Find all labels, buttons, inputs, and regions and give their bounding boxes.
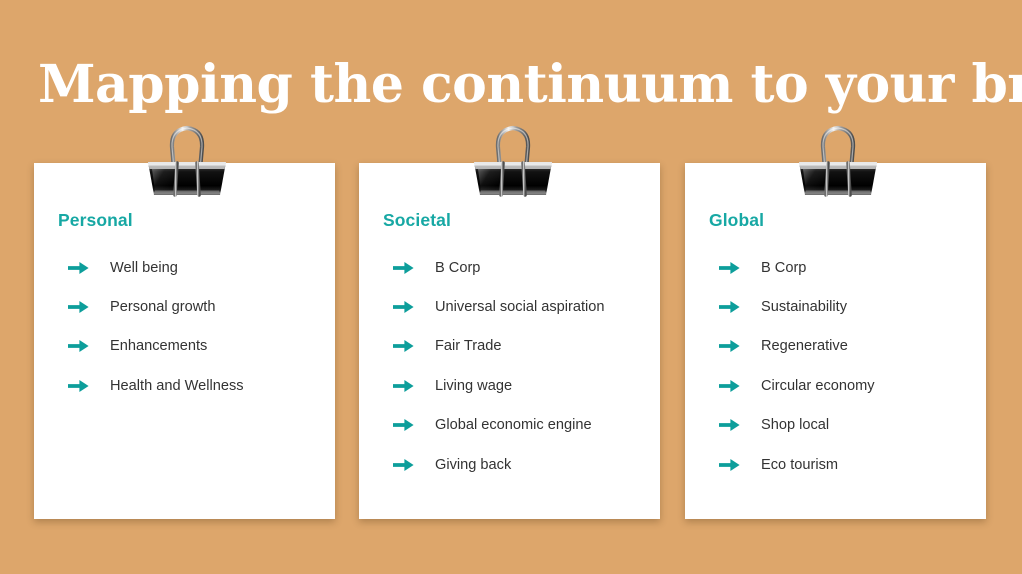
card-global[interactable]: Global B Corp: [685, 163, 986, 519]
arrow-right-icon: [392, 260, 415, 276]
arrow-right-icon: [392, 417, 415, 433]
card-content: Global B Corp: [685, 163, 986, 519]
slide-canvas: Mapping the continuum to your brand Pers…: [0, 0, 1022, 574]
arrow-right-icon: [67, 299, 90, 315]
arrow-right-icon: [392, 457, 415, 473]
arrow-right-icon: [718, 378, 741, 394]
list-item[interactable]: Circular economy: [709, 366, 968, 405]
arrow-right-icon: [718, 457, 741, 473]
card-heading-personal: Personal: [58, 209, 317, 231]
list-item-label: Health and Wellness: [110, 377, 244, 395]
list-item-label: Eco tourism: [761, 456, 838, 474]
card-personal[interactable]: Personal Well being: [34, 163, 335, 519]
page-title: Mapping the continuum to your brand: [38, 54, 988, 116]
list-item[interactable]: Well being: [58, 248, 317, 287]
arrow-right-icon: [392, 299, 415, 315]
arrow-right-icon: [718, 299, 741, 315]
card-heading-societal: Societal: [383, 209, 642, 231]
binder-clip-icon: [470, 119, 556, 197]
arrow-right-icon: [392, 338, 415, 354]
list-item-label: Circular economy: [761, 377, 875, 395]
list-item-label: B Corp: [435, 259, 480, 277]
card-content: Societal B Corp: [359, 163, 660, 519]
arrow-right-icon: [67, 260, 90, 276]
list-item-label: Personal growth: [110, 298, 215, 316]
arrow-right-icon: [392, 378, 415, 394]
card-societal[interactable]: Societal B Corp: [359, 163, 660, 519]
arrow-right-icon: [67, 378, 90, 394]
list-item[interactable]: Universal social aspiration: [383, 287, 642, 326]
card-group: Personal Well being: [34, 163, 986, 519]
list-item[interactable]: Health and Wellness: [58, 366, 317, 405]
list-item-label: Regenerative: [761, 337, 848, 355]
list-item-label: Enhancements: [110, 337, 207, 355]
list-item-label: Well being: [110, 259, 178, 277]
arrow-right-icon: [718, 417, 741, 433]
arrow-right-icon: [718, 338, 741, 354]
binder-clip-icon: [144, 119, 230, 197]
list-item[interactable]: Eco tourism: [709, 445, 968, 484]
list-item[interactable]: Regenerative: [709, 327, 968, 366]
card-list-societal: B Corp Universal social aspiration: [383, 248, 642, 484]
list-item-label: Giving back: [435, 456, 511, 474]
arrow-right-icon: [67, 338, 90, 354]
card-list-personal: Well being Personal growth: [58, 248, 317, 406]
arrow-right-icon: [718, 260, 741, 276]
list-item[interactable]: Living wage: [383, 366, 642, 405]
list-item-label: Living wage: [435, 377, 512, 395]
list-item[interactable]: Giving back: [383, 445, 642, 484]
binder-clip-icon: [795, 119, 881, 197]
list-item[interactable]: Shop local: [709, 406, 968, 445]
list-item-label: Shop local: [761, 416, 829, 434]
list-item-label: B Corp: [761, 259, 806, 277]
list-item[interactable]: Fair Trade: [383, 327, 642, 366]
list-item-label: Sustainability: [761, 298, 847, 316]
list-item[interactable]: Personal growth: [58, 287, 317, 326]
list-item[interactable]: Sustainability: [709, 287, 968, 326]
card-heading-global: Global: [709, 209, 968, 231]
list-item-label: Universal social aspiration: [435, 298, 605, 316]
card-list-global: B Corp Sustainability: [709, 248, 968, 484]
list-item-label: Fair Trade: [435, 337, 502, 355]
list-item-label: Global economic engine: [435, 416, 592, 434]
list-item[interactable]: B Corp: [383, 248, 642, 287]
list-item[interactable]: Enhancements: [58, 327, 317, 366]
list-item[interactable]: Global economic engine: [383, 406, 642, 445]
list-item[interactable]: B Corp: [709, 248, 968, 287]
card-content: Personal Well being: [34, 163, 335, 519]
